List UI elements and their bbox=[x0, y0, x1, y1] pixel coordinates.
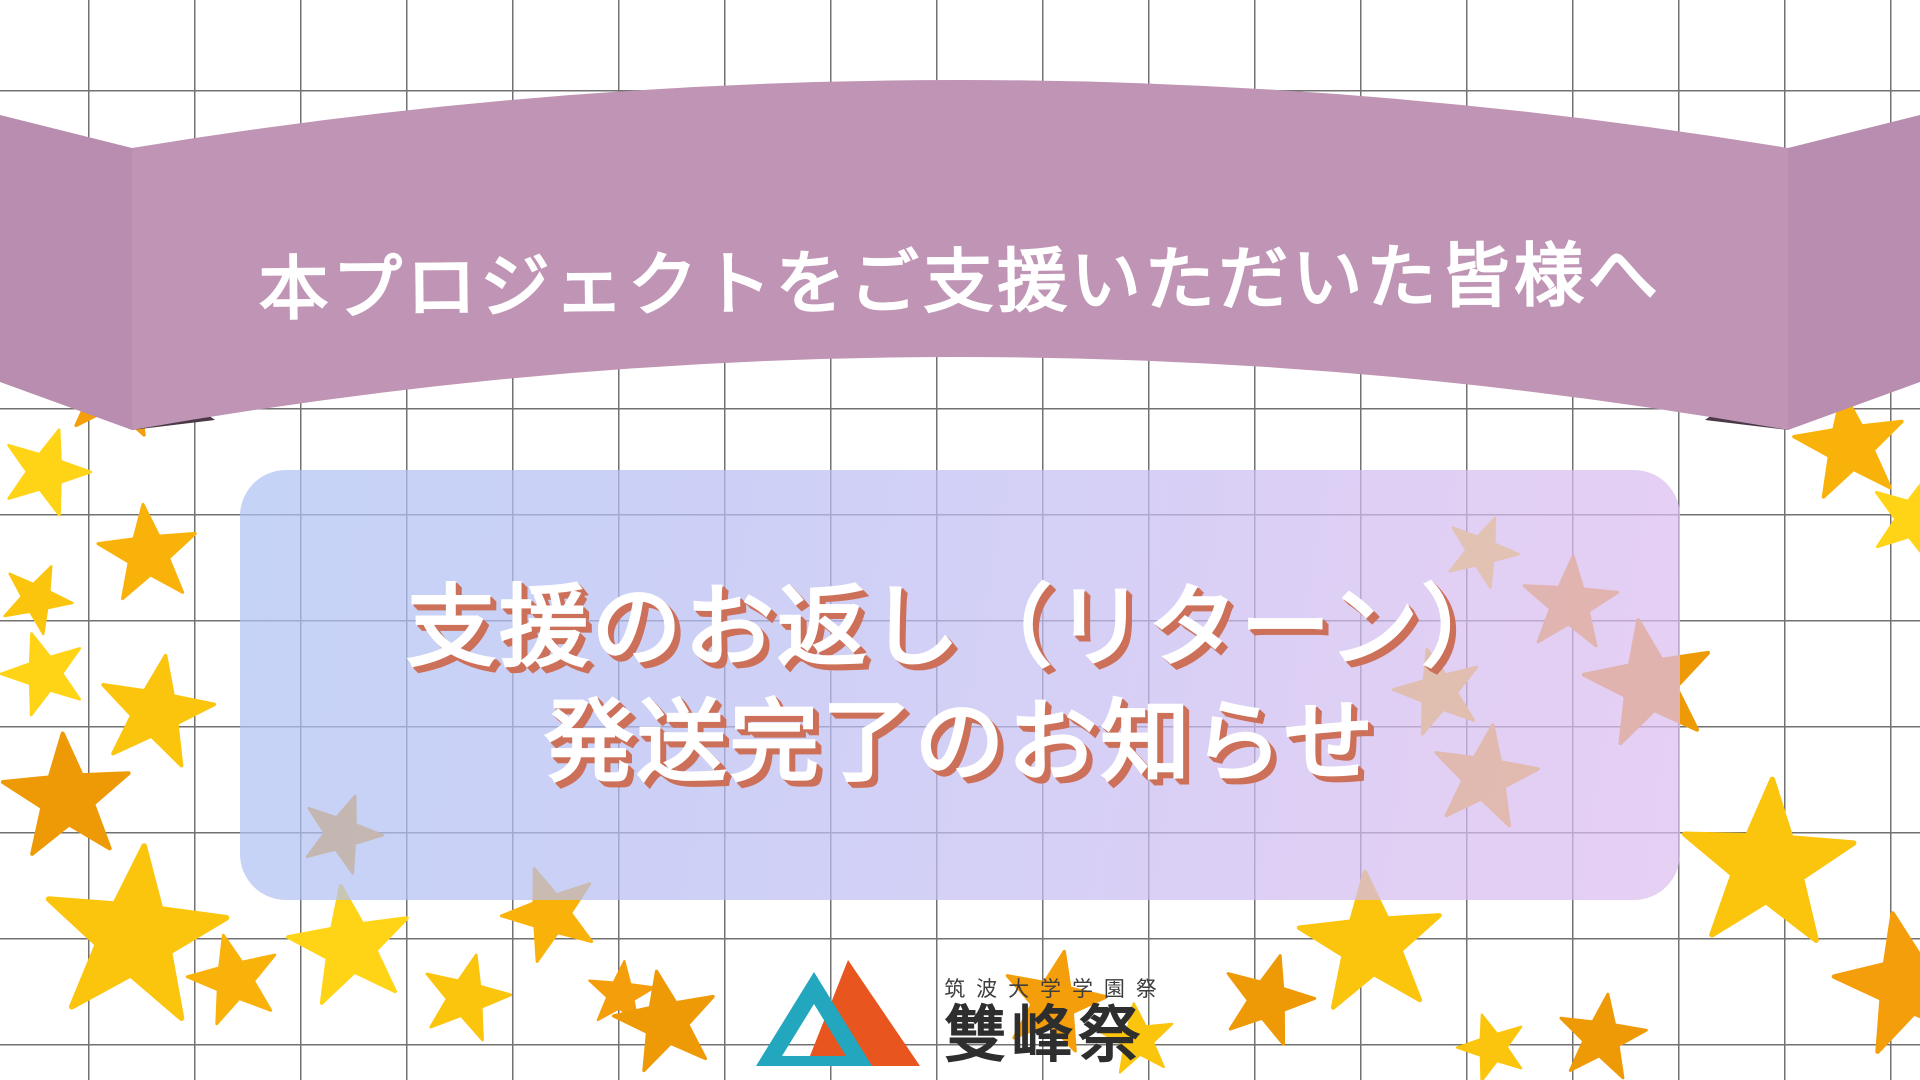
star-decoration bbox=[91, 495, 205, 609]
sohosai-mark-icon bbox=[752, 958, 920, 1070]
announcement-card bbox=[240, 470, 1680, 900]
star-decoration bbox=[0, 617, 99, 728]
logo-wordmark: 筑波大学学園祭 雙峰祭 bbox=[944, 979, 1167, 1066]
ribbon-banner: 本プロジェクトをご支援いただいた皆様へ bbox=[0, 30, 1920, 510]
poster-canvas: 本プロジェクトをご支援いただいた皆様へ 支援のお返し（リターン） 発送完了のお知… bbox=[0, 0, 1920, 1080]
footer-logo: 筑波大学学園祭 雙峰祭 bbox=[0, 958, 1920, 1070]
logo-subtitle: 筑波大学学園祭 bbox=[944, 979, 1167, 1000]
banner-title: 本プロジェクトをご支援いただいた皆様へ bbox=[0, 216, 1920, 337]
logo-title: 雙峰祭 bbox=[944, 1004, 1145, 1066]
